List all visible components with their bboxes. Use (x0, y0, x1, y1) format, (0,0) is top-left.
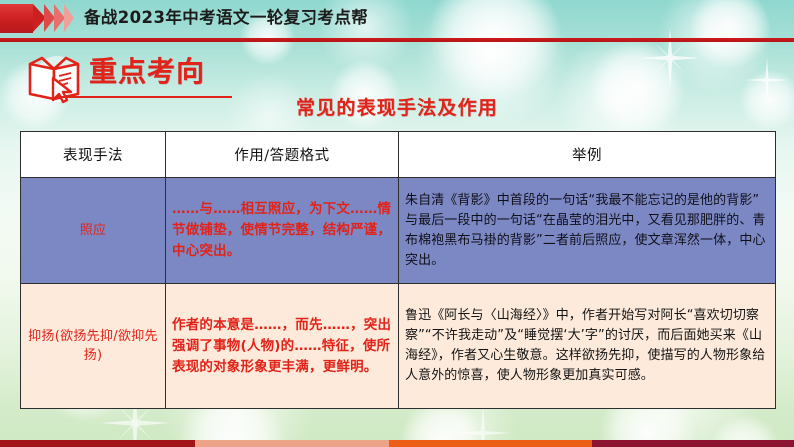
section-title: 重点考向 (89, 53, 205, 91)
cell-method: 抑扬(欲扬先抑/欲抑先扬) (21, 284, 166, 409)
header-band: 备战2023年中考语文一轮复习考点帮 (0, 0, 794, 41)
slide-canvas: 备战2023年中考语文一轮复习考点帮 重点考向 常见的表现手法及作用 表现手法 … (0, 0, 794, 447)
cell-example: 鲁迅《阿长与〈山海经〉》中，作者开始写对阿长“喜欢切切察察”“不许我走动”及“睡… (399, 284, 776, 409)
column-header-method: 表现手法 (21, 132, 166, 178)
bottom-bar-segment (0, 440, 195, 447)
header-title: 备战2023年中考语文一轮复习考点帮 (84, 7, 368, 29)
cell-usage: 作者的本意是……，而先……，突出强调了事物(人物)的……特征，使所表现的对象形象… (166, 284, 399, 409)
column-header-example: 举例 (399, 132, 776, 178)
header-divider-rule (0, 38, 794, 42)
bottom-bar-segment (195, 440, 390, 447)
table-row: 照应 ……与……相互照应，为下文……情节做铺垫，使情节完整，结构严谨，中心突出。… (21, 178, 776, 284)
cell-method: 照应 (21, 178, 166, 284)
table-row: 抑扬(欲扬先抑/欲抑先扬) 作者的本意是……，而先……，突出强调了事物(人物)的… (21, 284, 776, 409)
cell-example: 朱自清《背影》中首段的一句话“我最不能忘记的是他的背影”与最后一段中的一句话“在… (399, 178, 776, 284)
column-header-usage: 作用/答题格式 (166, 132, 399, 178)
techniques-table: 表现手法 作用/答题格式 举例 照应 ……与……相互照应，为下文……情节做铺垫，… (20, 131, 776, 409)
bottom-color-bar (0, 440, 794, 447)
cell-usage: ……与……相互照应，为下文……情节做铺垫，使情节完整，结构严谨，中心突出。 (166, 178, 399, 284)
header-chevron-block-icon (0, 4, 33, 33)
header-chevron-icon (64, 4, 74, 32)
bottom-bar-segment (592, 440, 794, 447)
bottom-bar-segment (389, 440, 591, 447)
page-title: 常见的表现手法及作用 (0, 95, 794, 121)
table-header-row: 表现手法 作用/答题格式 举例 (21, 132, 776, 178)
